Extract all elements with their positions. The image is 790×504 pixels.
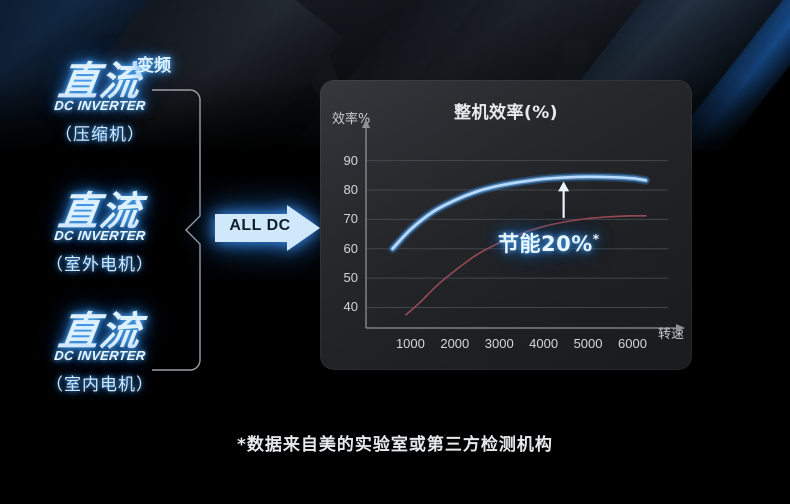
logo-mark: 直流 变频 [59, 62, 141, 102]
logo-mark: 直流 [59, 312, 141, 352]
all-dc-label: ALL DC [227, 217, 293, 235]
chart-plot-area [320, 80, 692, 370]
y-axis-tick: 60 [328, 241, 358, 256]
y-axis-tick: 90 [328, 153, 358, 168]
bracket-connector-icon [152, 88, 204, 372]
y-axis-tick: 70 [328, 211, 358, 226]
x-axis-tick: 2000 [432, 336, 478, 351]
y-axis-tick: 50 [328, 270, 358, 285]
x-axis-tick: 4000 [521, 336, 567, 351]
x-axis-tick: 5000 [565, 336, 611, 351]
logo-brand-text: 直流 [56, 62, 144, 102]
logo-mark: 直流 [59, 192, 141, 232]
annotation-asterisk: * [593, 232, 600, 246]
x-axis-tick: 3000 [476, 336, 522, 351]
efficiency-chart-panel: 整机效率(%) 效率% 转速 908070605040 100020003000… [320, 80, 692, 370]
all-dc-arrow: ALL DC [215, 205, 320, 251]
logo-brand-text: 直流 [56, 312, 144, 352]
x-axis-tick: 1000 [387, 336, 433, 351]
logo-subtitle: （室内电机） [0, 370, 200, 395]
logo-badge-text: 变频 [137, 58, 171, 74]
energy-saving-annotation: 节能20%* [498, 228, 600, 258]
x-axis-tick: 6000 [609, 336, 655, 351]
footnote: *数据来自美的实验室或第三方检测机构 [0, 430, 790, 455]
chart-annotation-arrow [558, 181, 569, 218]
y-axis-tick: 40 [328, 299, 358, 314]
logo-brand-text: 直流 [56, 192, 144, 232]
y-axis-tick: 80 [328, 182, 358, 197]
